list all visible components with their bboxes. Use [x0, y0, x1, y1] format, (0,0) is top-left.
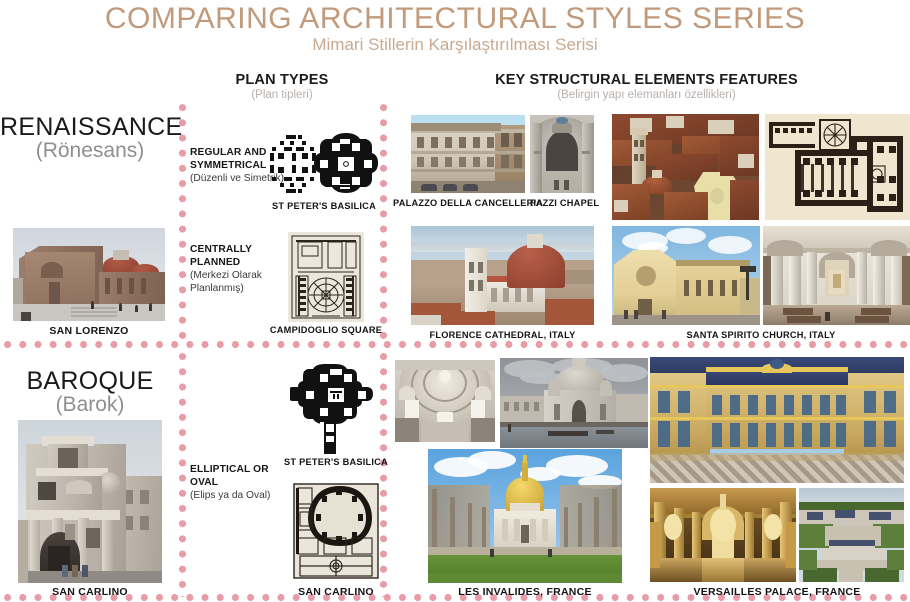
photo-santo-spirito-aerial: [612, 114, 759, 220]
diagram-st-peters-basilica-renaissance: [268, 133, 380, 195]
column-header-plan-types-en: PLAN TYPES: [182, 72, 382, 88]
caption-santa-spirito-church: SANTA SPIRITO CHURCH, ITALY: [612, 330, 910, 340]
photo-san-lorenzo: [13, 228, 165, 321]
column-header-plan-types: PLAN TYPES (Plan tipleri): [182, 72, 382, 101]
feature-elliptical-oval: ELLIPTICAL OR OVAL (Elips ya da Oval): [190, 463, 288, 502]
photo-versailles-courtyard: [650, 357, 904, 483]
caption-st-peters-basilica-baroque: ST PETER'S BASILICA: [276, 457, 396, 467]
style-name-renaissance: RENAISSANCE (Rönesans): [0, 113, 180, 163]
caption-les-invalides: LES INVALIDES, FRANCE: [428, 586, 622, 598]
style-name-baroque-en: BAROQUE: [0, 367, 180, 396]
diagram-st-peters-basilica-baroque: [290, 362, 382, 454]
page-title: COMPARING ARCHITECTURAL STYLES SERIES: [0, 2, 910, 36]
column-header-key-structural: KEY STRUCTURAL ELEMENTS FEATURES (Belirg…: [383, 72, 910, 101]
caption-versailles-palace: VERSAILLES PALACE, FRANCE: [650, 586, 904, 598]
caption-campidoglio-square: CAMPIDOGLIO SQUARE: [258, 325, 394, 335]
feature-centrally-planned: CENTRALLY PLANNED (Merkezi Olarak Planla…: [190, 243, 285, 295]
caption-florence-cathedral: FLORENCE CATHEDRAL, ITALY: [411, 330, 594, 340]
style-name-baroque: BAROQUE (Barok): [0, 367, 180, 417]
caption-san-carlino-plan: SAN CARLINO: [276, 586, 396, 598]
photo-baroque-dome-interior: [395, 360, 495, 442]
infographic-page: COMPARING ARCHITECTURAL STYLES SERIES Mi…: [0, 0, 910, 602]
style-name-baroque-tr: (Barok): [0, 393, 180, 417]
column-header-key-structural-tr: (Belirgin yapı elemanları özellikleri): [383, 89, 910, 101]
column-header-key-structural-en: KEY STRUCTURAL ELEMENTS FEATURES: [383, 72, 910, 88]
photo-versailles-aerial: [799, 488, 904, 582]
divider-horizontal-middle: [0, 341, 910, 348]
diagram-san-carlino-plan: [290, 482, 382, 580]
page-subtitle: Mimari Stillerin Karşılaştırılması Seris…: [0, 35, 910, 55]
diagram-campidoglio-square: [288, 232, 364, 322]
photo-palazzo-della-cancelleria: [411, 115, 525, 193]
divider-vertical-left-lower: [179, 349, 186, 597]
photo-santa-spirito-exterior: [612, 226, 760, 325]
style-name-renaissance-en: RENAISSANCE: [0, 113, 180, 142]
divider-vertical-right: [380, 100, 387, 345]
photo-hall-of-mirrors: [650, 488, 796, 582]
photo-santa-spirito-interior: [763, 226, 910, 325]
feature-centrally-planned-en: CENTRALLY PLANNED: [190, 243, 285, 269]
caption-st-peters-basilica-renaissance: ST PETER'S BASILICA: [266, 201, 382, 211]
photo-florence-cathedral: [411, 226, 594, 325]
caption-palazzo-della-cancelleria: PALAZZO DELLA CANCELLERIA: [393, 198, 543, 208]
photo-santa-maria-della-salute: [500, 358, 648, 448]
column-header-plan-types-tr: (Plan tipleri): [182, 89, 382, 101]
caption-san-carlino-photo: SAN CARLINO: [18, 586, 162, 598]
photo-pazzi-chapel: [530, 115, 594, 193]
feature-elliptical-oval-en: ELLIPTICAL OR OVAL: [190, 463, 288, 489]
feature-centrally-planned-tr: (Merkezi Olarak Planlanmış): [190, 269, 285, 295]
caption-pazzi-chapel: PAZZI CHAPEL: [530, 198, 594, 208]
caption-san-lorenzo: SAN LORENZO: [13, 325, 165, 337]
feature-elliptical-oval-tr: (Elips ya da Oval): [190, 489, 288, 502]
diagram-santo-spirito-plan: [765, 114, 910, 220]
photo-les-invalides: [428, 449, 622, 583]
style-name-renaissance-tr: (Rönesans): [0, 139, 180, 163]
photo-san-carlino: [18, 420, 162, 583]
